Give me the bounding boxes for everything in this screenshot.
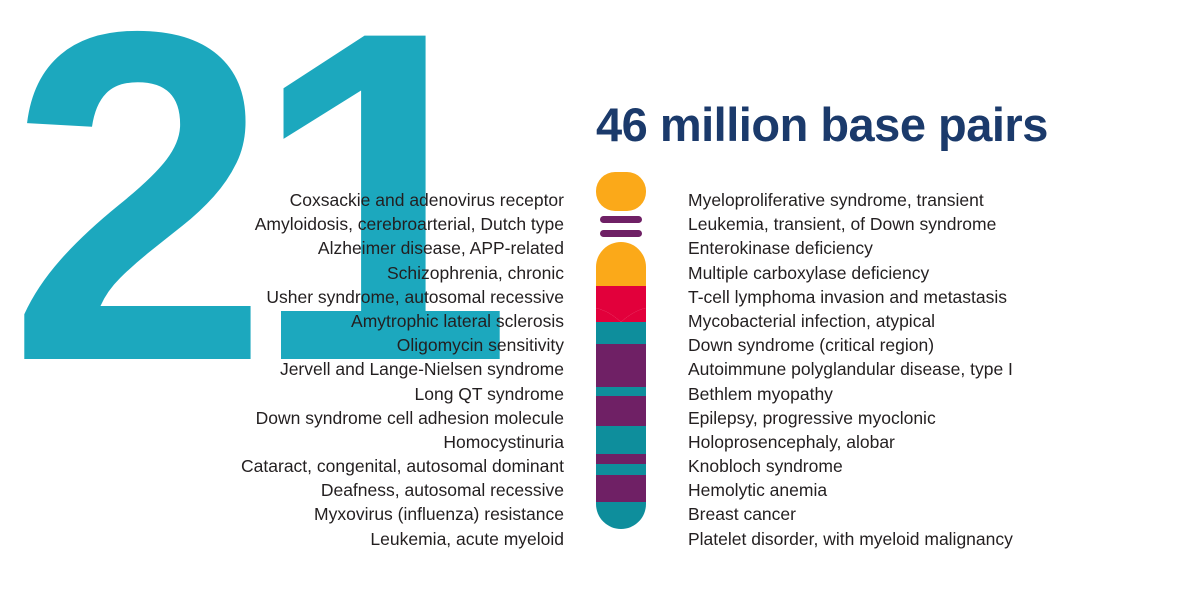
band-p-arm-proximal <box>596 242 646 286</box>
list-item: Leukemia, acute myeloid <box>241 527 564 551</box>
band-p-arm-distal-satellite <box>596 172 646 211</box>
list-item: Myxovirus (influenza) resistance <box>241 502 564 526</box>
chromosome-ideogram <box>596 172 646 530</box>
list-item: Cataract, congenital, autosomal dominant <box>241 454 564 478</box>
list-item: Platelet disorder, with myeloid malignan… <box>688 527 1013 551</box>
list-item: Myeloproliferative syndrome, transient <box>688 188 1013 212</box>
list-item: Homocystinuria <box>241 430 564 454</box>
band-q-band-8 <box>596 475 646 502</box>
list-item: Jervell and Lange-Nielsen syndrome <box>241 357 564 381</box>
list-item: Schizophrenia, chronic <box>241 261 564 285</box>
list-item: Deafness, autosomal recessive <box>241 478 564 502</box>
infographic-canvas: 21 46 million base pairs Coxsackie and a… <box>0 0 1200 612</box>
band-q-band-6 <box>596 454 646 464</box>
list-item: Epilepsy, progressive myoclonic <box>688 406 1013 430</box>
band-q-band-1 <box>596 322 646 344</box>
band-q-band-2 <box>596 344 646 387</box>
list-item: Mycobacterial infection, atypical <box>688 309 1013 333</box>
list-item: Down syndrome cell adhesion molecule <box>241 406 564 430</box>
band-q-band-4 <box>596 396 646 426</box>
gene-list-left: Coxsackie and adenovirus receptor Amyloi… <box>241 188 564 551</box>
band-p-arm-stalk-band-1 <box>600 216 642 223</box>
list-item: Usher syndrome, autosomal recessive <box>241 285 564 309</box>
list-item: Hemolytic anemia <box>688 478 1013 502</box>
list-item: Down syndrome (critical region) <box>688 333 1013 357</box>
list-item: Leukemia, transient, of Down syndrome <box>688 212 1013 236</box>
list-item: Amytrophic lateral sclerosis <box>241 309 564 333</box>
band-q-band-3 <box>596 387 646 396</box>
list-item: Holoprosencephaly, alobar <box>688 430 1013 454</box>
list-item: Coxsackie and adenovirus receptor <box>241 188 564 212</box>
band-q-terminus <box>596 502 646 530</box>
gene-list-right: Myeloproliferative syndrome, transient L… <box>688 188 1013 551</box>
band-q-band-7 <box>596 464 646 475</box>
list-item: Multiple carboxylase deficiency <box>688 261 1013 285</box>
band-q-band-5 <box>596 426 646 454</box>
list-item: Enterokinase deficiency <box>688 236 1013 260</box>
list-item: Amyloidosis, cerebroarterial, Dutch type <box>241 212 564 236</box>
list-item: Oligomycin sensitivity <box>241 333 564 357</box>
list-item: Alzheimer disease, APP-related <box>241 236 564 260</box>
list-item: Long QT syndrome <box>241 382 564 406</box>
list-item: T-cell lymphoma invasion and metastasis <box>688 285 1013 309</box>
list-item: Breast cancer <box>688 502 1013 526</box>
list-item: Knobloch syndrome <box>688 454 1013 478</box>
page-title: 46 million base pairs <box>596 101 1048 148</box>
band-p-arm-stalk-band-2 <box>600 230 642 237</box>
list-item: Bethlem myopathy <box>688 382 1013 406</box>
list-item: Autoimmune polyglandular disease, type I <box>688 357 1013 381</box>
